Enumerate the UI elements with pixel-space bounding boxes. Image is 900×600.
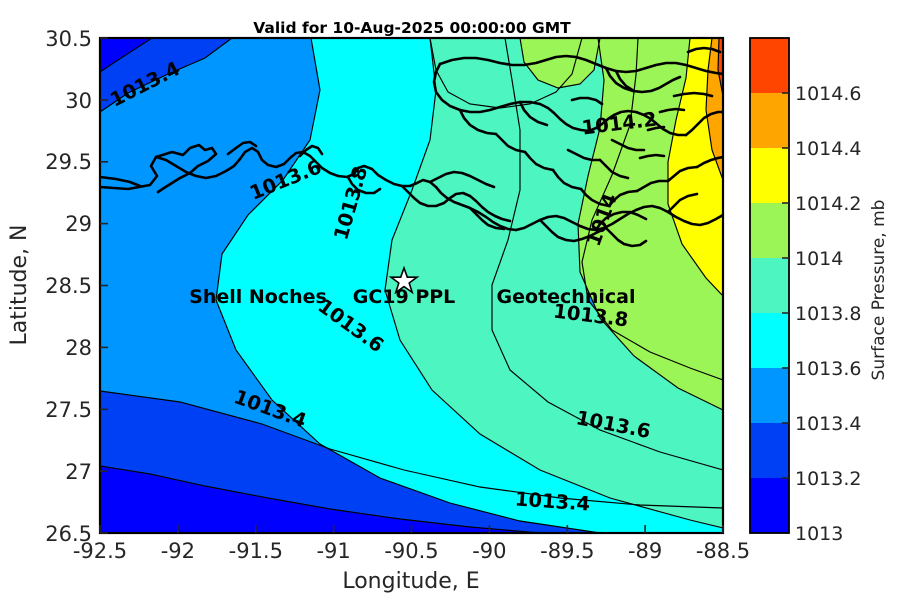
x-tick-label: -89.5 bbox=[540, 539, 594, 563]
y-tick-label: 29 bbox=[65, 212, 92, 236]
pressure-contour-figure: Valid for 10-Aug-2025 00:00:00 GMT bbox=[0, 0, 900, 600]
colorbar-tick-label: 1014.6 bbox=[795, 83, 861, 105]
colorbar-swatch-1014.6 bbox=[750, 38, 789, 93]
x-tick-label: -89 bbox=[628, 539, 662, 563]
colorbar-tick-label: 1014.2 bbox=[795, 193, 861, 215]
colorbar-tick-label: 1013.6 bbox=[795, 358, 861, 380]
y-tick-label: 27 bbox=[65, 460, 92, 484]
y-tick-label: 30 bbox=[65, 89, 92, 113]
colorbar-tick-label: 1013 bbox=[795, 523, 843, 545]
x-tick-label: -92.5 bbox=[73, 539, 127, 563]
x-tick-label: -90.5 bbox=[384, 539, 438, 563]
colorbar-swatch-1014 bbox=[750, 203, 789, 258]
x-tick-label: -91 bbox=[316, 539, 350, 563]
colorbar-axis-label: Surface Pressure, mb bbox=[869, 200, 889, 381]
y-tick-label: 27.5 bbox=[45, 398, 92, 422]
colorbar-swatch-1013.4 bbox=[750, 368, 789, 423]
x-axis-label: Longitude, E bbox=[342, 569, 479, 594]
x-tick-label: -92 bbox=[161, 539, 195, 563]
figure-title: Valid for 10-Aug-2025 00:00:00 GMT bbox=[253, 19, 571, 37]
figure-root: Valid for 10-Aug-2025 00:00:00 GMT bbox=[0, 0, 900, 600]
colorbar-swatch-1013.6 bbox=[750, 313, 789, 368]
colorbar-swatch-1013.8 bbox=[750, 258, 789, 313]
x-tick-label: -91.5 bbox=[229, 539, 283, 563]
colorbar-tick-label: 1013.2 bbox=[795, 468, 861, 490]
x-tick-label: -90 bbox=[472, 539, 506, 563]
colorbar-swatch-1014.2 bbox=[750, 148, 789, 203]
x-tick-label: -88.5 bbox=[696, 539, 750, 563]
station-label-geotechnical: Geotechnical bbox=[497, 286, 636, 308]
y-tick-label: 30.5 bbox=[45, 27, 92, 51]
colorbar-tick-label: 1013.4 bbox=[795, 413, 861, 435]
colorbar-tick-label: 1014.4 bbox=[795, 138, 861, 160]
y-tick-label: 28.5 bbox=[45, 274, 92, 298]
colorbar-swatch-1013.2 bbox=[750, 423, 789, 478]
y-axis-label: Latitude, N bbox=[7, 225, 32, 346]
x-axis-tick-labels: -92.5 -92 -91.5 -91 -90.5 -90 -89.5 -89 … bbox=[73, 539, 750, 563]
colorbar-swatch-1014.4 bbox=[750, 93, 789, 148]
y-tick-label: 29.5 bbox=[45, 150, 92, 174]
station-label-gc19-ppl: GC19 PPL bbox=[353, 286, 456, 308]
colorbar-tick-label: 1014 bbox=[795, 248, 843, 270]
colorbar-tick-label: 1013.8 bbox=[795, 303, 861, 325]
station-label-shell-noches: Shell Noches bbox=[189, 286, 327, 308]
map-plot-area: 1013.4 1013.6 1013.8 1014.2 1014 1013.6 … bbox=[7, 27, 750, 594]
y-tick-label: 28 bbox=[65, 336, 92, 360]
colorbar-swatch-1013 bbox=[750, 478, 789, 533]
